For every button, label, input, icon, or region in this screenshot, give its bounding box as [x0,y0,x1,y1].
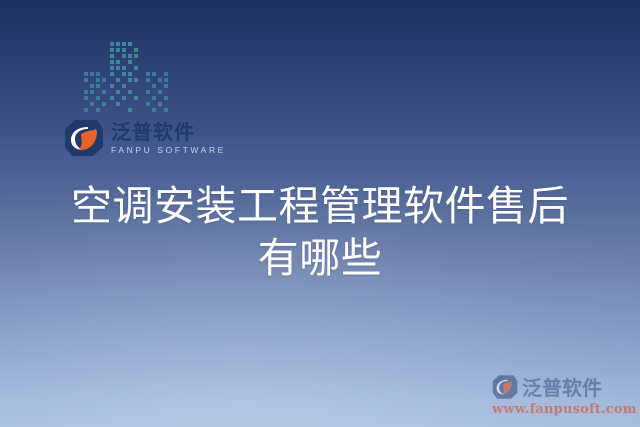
fanpu-logo-mark-icon [492,374,518,400]
brand-name-en: FANPU SOFTWARE [111,146,226,155]
watermark-url: www.fanpusoft.com [492,402,632,417]
brand-logo-text: 泛普软件 FANPU SOFTWARE [111,122,226,155]
watermark: 泛普软件 www.fanpusoft.com [492,372,632,417]
fanpu-logo-mark-icon [64,118,104,158]
watermark-brand-name: 泛普软件 [522,372,602,401]
page-title-line2: 有哪些 [0,232,640,284]
brand-logo-lockup: 泛普软件 FANPU SOFTWARE [64,118,226,158]
brand-name-cn: 泛普软件 [111,122,226,142]
watermark-logo-row: 泛普软件 [492,372,632,401]
page-title-line1: 空调安装工程管理软件售后 [0,180,640,232]
promo-banner: 泛普软件 FANPU SOFTWARE 空调安装工程管理软件售后 有哪些 泛普软… [0,0,640,427]
page-title: 空调安装工程管理软件售后 有哪些 [0,180,640,285]
pixel-city-skyline-icon [78,30,174,118]
